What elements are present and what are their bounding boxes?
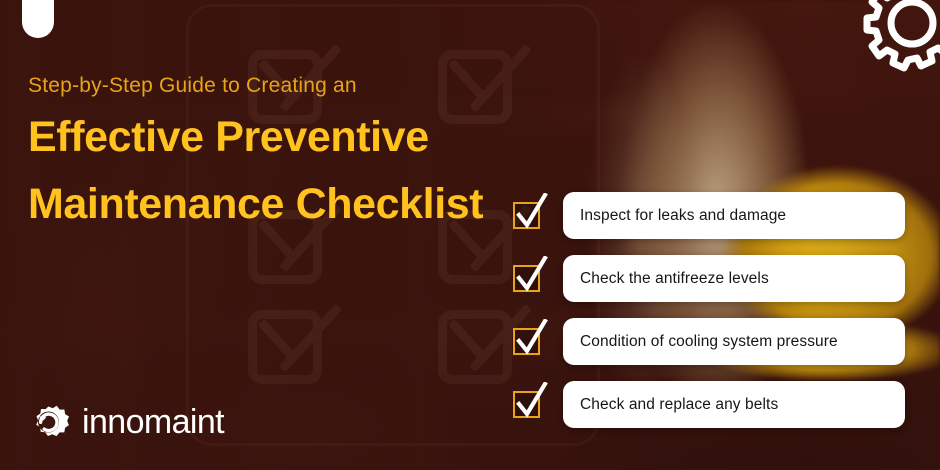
checklist-item[interactable]: Inspect for leaks and damage bbox=[513, 192, 905, 239]
checklist-label: Condition of cooling system pressure bbox=[580, 333, 838, 351]
headline-block: Step-by-Step Guide to Creating an Effect… bbox=[28, 74, 508, 230]
banner: Step-by-Step Guide to Creating an Effect… bbox=[0, 0, 940, 470]
logo-text: innomaint bbox=[82, 405, 224, 439]
gear-icon bbox=[860, 0, 940, 72]
checklist-label: Check and replace any belts bbox=[580, 396, 778, 414]
checklist-label: Inspect for leaks and damage bbox=[580, 207, 786, 225]
logo[interactable]: innomaint bbox=[27, 400, 224, 444]
checklist: Inspect for leaks and damage Check the a… bbox=[513, 192, 905, 428]
checklist-label: Check the antifreeze levels bbox=[580, 270, 769, 288]
checkbox-checked-icon[interactable] bbox=[513, 265, 540, 292]
checkbox-checked-icon[interactable] bbox=[513, 202, 540, 229]
checklist-chip[interactable]: Check the antifreeze levels bbox=[563, 255, 905, 302]
checklist-chip[interactable]: Inspect for leaks and damage bbox=[563, 192, 905, 239]
checklist-chip[interactable]: Check and replace any belts bbox=[563, 381, 905, 428]
headline-line-1: Effective Preventive bbox=[28, 111, 508, 163]
gear-with-arrow-icon bbox=[27, 400, 71, 444]
checklist-chip[interactable]: Condition of cooling system pressure bbox=[563, 318, 905, 365]
checklist-item[interactable]: Check and replace any belts bbox=[513, 381, 905, 428]
checkbox-checked-icon[interactable] bbox=[513, 391, 540, 418]
watermark-check-icon bbox=[248, 296, 336, 384]
top-left-pill-decoration bbox=[22, 0, 54, 38]
checklist-item[interactable]: Check the antifreeze levels bbox=[513, 255, 905, 302]
checkbox-checked-icon[interactable] bbox=[513, 328, 540, 355]
subtitle: Step-by-Step Guide to Creating an bbox=[28, 74, 508, 97]
headline-line-2: Maintenance Checklist bbox=[28, 178, 508, 230]
checklist-item[interactable]: Condition of cooling system pressure bbox=[513, 318, 905, 365]
